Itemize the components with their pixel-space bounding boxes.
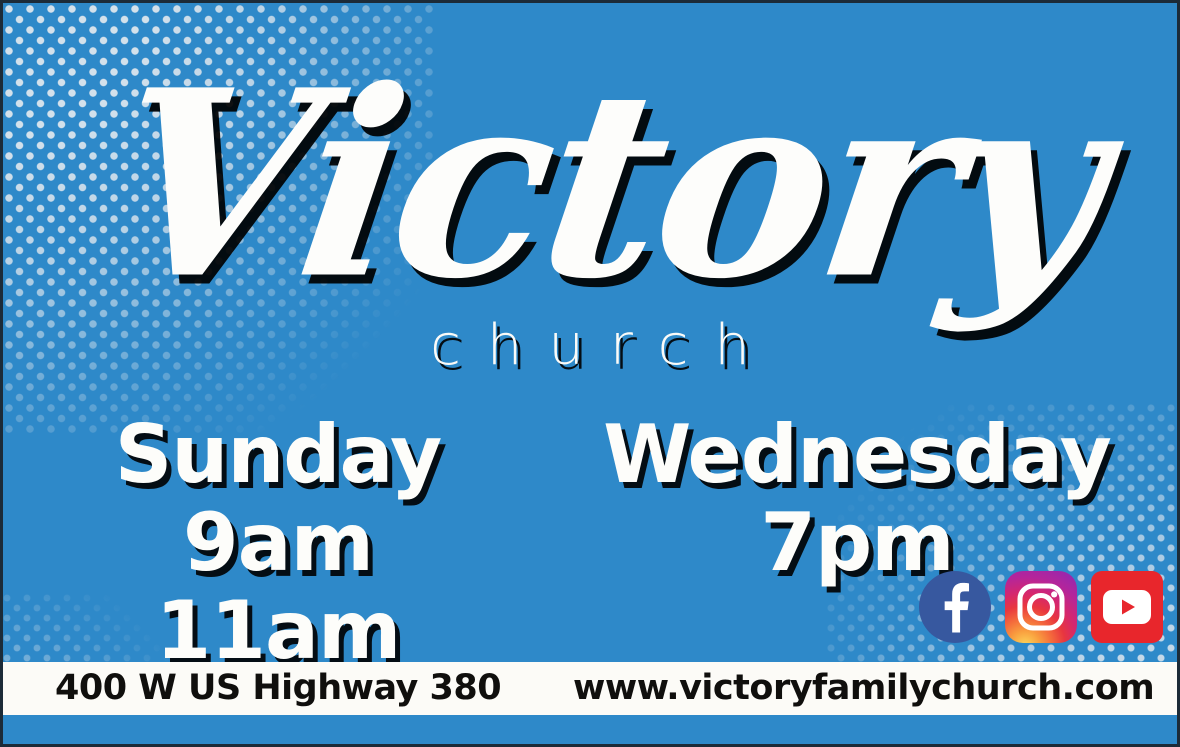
footer-info-bar: 400 W US Highway 380 www.victoryfamilych… bbox=[0, 662, 1180, 715]
service-column-sunday: Sunday 9am 11am bbox=[63, 415, 493, 671]
sunday-day-label: Sunday bbox=[63, 415, 493, 495]
youtube-icon[interactable] bbox=[1091, 571, 1163, 643]
wednesday-day-label: Wednesday bbox=[577, 415, 1137, 495]
sunday-time-1: 9am bbox=[63, 503, 493, 583]
footer-website[interactable]: www.victoryfamilychurch.com bbox=[573, 671, 1154, 706]
logo-wordmark-text: Victory bbox=[95, 34, 1139, 336]
instagram-glyph bbox=[1015, 581, 1067, 633]
service-column-wednesday: Wednesday 7pm bbox=[577, 415, 1137, 583]
church-sign-banner: Victory church Sunday 9am 11am Wednesday… bbox=[0, 0, 1180, 747]
logo-block: Victory church bbox=[3, 7, 1177, 397]
logo-subtitle-church: church bbox=[3, 313, 1177, 378]
facebook-glyph bbox=[938, 581, 972, 633]
sunday-time-2: 11am bbox=[63, 591, 493, 671]
youtube-glyph bbox=[1102, 589, 1152, 625]
facebook-icon[interactable] bbox=[919, 571, 991, 643]
bottom-blue-strip bbox=[0, 715, 1180, 747]
social-links bbox=[919, 571, 1163, 643]
footer-address: 400 W US Highway 380 bbox=[55, 671, 501, 706]
instagram-icon[interactable] bbox=[1005, 571, 1077, 643]
